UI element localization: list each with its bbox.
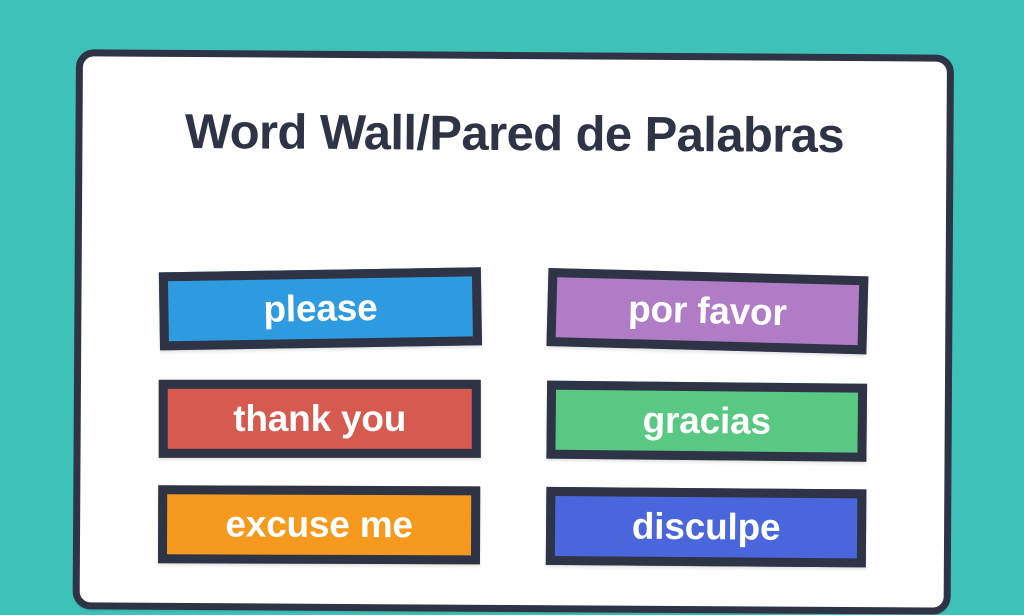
word-card-please[interactable]: please [159, 267, 482, 350]
word-card-grid: please por favor thank you gracias excus… [80, 206, 946, 541]
word-wall-board: Word Wall/Pared de Palabras please por f… [73, 49, 954, 614]
word-card-excuse-me[interactable]: excuse me [158, 485, 480, 564]
word-card-label: disculpe [632, 507, 781, 545]
word-card-label: please [263, 288, 378, 327]
poster-stage: Word Wall/Pared de Palabras please por f… [0, 0, 1024, 576]
word-card-label: excuse me [225, 505, 413, 543]
page-title: Word Wall/Pared de Palabras [82, 106, 946, 163]
board-inner: Word Wall/Pared de Palabras please por f… [80, 56, 947, 607]
word-card-por-favor[interactable]: por favor [546, 268, 868, 354]
word-card-label: por favor [628, 290, 787, 331]
word-card-thank-you[interactable]: thank you [159, 380, 481, 458]
word-card-gracias[interactable]: gracias [546, 381, 867, 462]
word-card-disculpe[interactable]: disculpe [546, 487, 867, 568]
word-card-label: gracias [642, 401, 771, 439]
word-card-label: thank you [233, 399, 406, 436]
